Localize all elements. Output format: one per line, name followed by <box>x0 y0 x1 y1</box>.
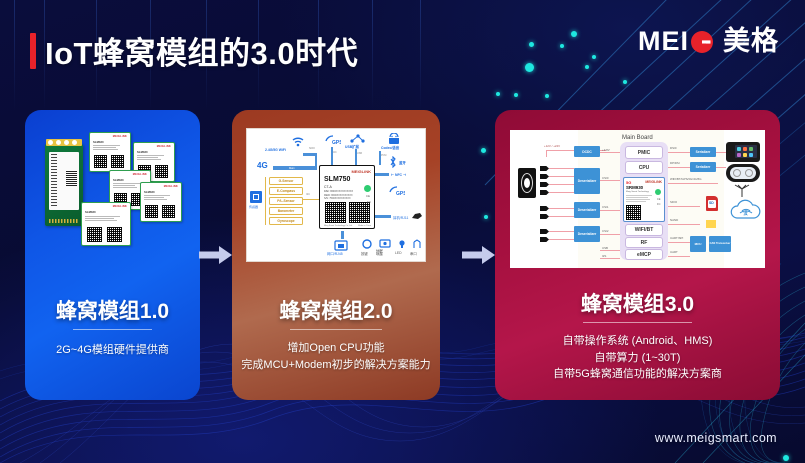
node-dot <box>560 44 564 48</box>
sleep-wake-icon <box>379 239 391 249</box>
main-board-diagram: Main Board +12V / +24V <box>510 130 765 268</box>
card-cellular-module-2[interactable]: MEIGLiNK SLM750 CT-A IMEI: 8600XXXXXXXXX… <box>232 110 440 400</box>
card-subtitle: 自带操作系统 (Android、HMS) 自带算力 (1~30T) 自带5G蜂窝… <box>501 333 774 383</box>
nand-chip-icon <box>706 220 716 228</box>
block-mcu: MCU <box>690 236 706 252</box>
module-chip-graphic: MEIGLiNK SLM750 CT-A IMEI: 8600XXXXXXXXX… <box>319 165 375 229</box>
node-dot <box>514 93 518 97</box>
sensor-barometer: Barometer <box>269 207 303 215</box>
sd-card-icon: SD <box>706 196 718 211</box>
card-subtitle: 2G~4G模组硬件提供商 <box>31 342 194 359</box>
website-url[interactable]: www.meigsmart.com <box>655 431 777 445</box>
card-subtitle-line: 自带算力 (1~30T) <box>501 350 774 367</box>
bus-arrow <box>273 166 317 170</box>
card-title: 蜂窝模组1.0 <box>25 295 200 325</box>
logo-g-icon <box>690 30 714 54</box>
logo-chinese-name: 美格 <box>723 28 779 55</box>
page-title: IoT蜂窝模组的3.0时代 <box>30 28 358 73</box>
block-cpu: CPU <box>625 161 663 174</box>
serial-port-icon <box>412 239 422 249</box>
node-dot <box>529 42 534 47</box>
node-dot <box>592 55 596 59</box>
sensor-g-sensor: G-Sensor <box>269 177 303 185</box>
logo-wordmark: MEI <box>638 28 714 55</box>
open-cpu-diagram: MEIGLiNK SLM750 CT-A IMEI: 8600XXXXXXXXX… <box>246 128 426 262</box>
node-dot <box>484 215 488 219</box>
sensor-gyroscope: Gyroscope <box>269 217 303 225</box>
card-title: 蜂窝模组2.0 <box>232 295 440 325</box>
block-serializer: Serializer <box>690 162 716 172</box>
svg-text:GPS: GPS <box>396 191 405 196</box>
camera-icon <box>518 168 536 198</box>
bluetooth-icon <box>389 156 397 168</box>
card-cellular-module-3[interactable]: Main Board +12V / +24V <box>495 110 780 400</box>
sensor-chip-icon <box>250 191 262 203</box>
block-serializer: Serializer <box>690 147 716 157</box>
ethernet-icon <box>333 239 349 251</box>
block-emcp: eMCP <box>625 249 663 260</box>
block-dcdc: DCDC <box>574 146 600 157</box>
card-divider <box>290 329 382 330</box>
pcb-module-image <box>45 144 83 226</box>
node-dot <box>783 455 789 461</box>
chip-brand: MEIGLiNK <box>645 180 662 184</box>
sensor-e-compass: E-Compass <box>269 187 303 195</box>
node-dot <box>496 92 500 96</box>
module-chip-srm930: 5G MEIGLiNK SRM930 Meig Smart Technology… <box>623 177 665 222</box>
card-subtitle-line: 增加Open CPU功能 <box>238 340 434 357</box>
card-divider <box>583 322 692 323</box>
slide-canvas: IoT蜂窝模组的3.0时代 MEI 美格 <box>0 0 805 463</box>
chip-model: SRM930 <box>626 185 643 190</box>
block-can-transceiver: CAN Transceiver <box>709 236 731 252</box>
node-dot <box>571 31 577 37</box>
node-dot <box>525 63 534 72</box>
arrow-panel1-to-panel2 <box>199 245 233 265</box>
node-dot <box>545 94 549 98</box>
gps-icon: GPS <box>325 135 341 145</box>
block-deserializer: Deserializer <box>574 226 600 242</box>
block-deserializer: Deserializer <box>574 168 600 194</box>
logo-letters: MEI <box>638 28 689 55</box>
node-dot <box>585 65 589 69</box>
card-subtitle-line: 自带5G蜂窝通信功能的解决方案商 <box>501 366 774 383</box>
wifi-icon <box>291 135 305 147</box>
block-wifi-bt: WIFI/BT <box>625 224 663 236</box>
card-cellular-module-1[interactable]: MEIGLiNKSLM320 MEIGLiNKSLM320 MEIGLiNKSL… <box>25 110 200 400</box>
svg-text:云: 云 <box>743 211 748 217</box>
svg-text:GPS: GPS <box>332 140 341 145</box>
node-dot <box>623 80 627 84</box>
title-accent-bar <box>30 33 36 69</box>
chip-5g-badge: 5G <box>626 180 631 185</box>
board-title: Main Board <box>622 135 653 141</box>
card-subtitle-line: 自带操作系统 (Android、HMS) <box>501 333 774 350</box>
button-icon <box>362 239 372 249</box>
handset-icon <box>411 211 423 221</box>
node-dot <box>481 148 486 153</box>
led-icon <box>397 239 407 249</box>
sensor-pl-sensor: P/L-Sensor <box>269 197 303 205</box>
instrument-cluster-icon <box>726 164 760 182</box>
gps-icon: GPS <box>389 186 405 196</box>
block-rf: RF <box>625 237 663 248</box>
cloud-icon: 云 <box>728 198 764 224</box>
block-pmic: PMIC <box>625 146 663 159</box>
module-card: MEIGLiNKSLM320 <box>89 132 131 172</box>
android-icon <box>387 133 401 145</box>
card-subtitle-line: 完成MCU+Modem初步的解决方案能力 <box>238 357 434 374</box>
brand-logo: MEI 美格 <box>638 28 779 55</box>
card-title: 蜂窝模组3.0 <box>495 288 780 318</box>
module-card: MEIGLiNKSLM320 <box>140 182 182 222</box>
block-deserializer: Deserializer <box>574 202 600 218</box>
card-divider <box>73 329 152 330</box>
arrow-panel2-to-panel3 <box>462 245 496 265</box>
title-text: IoT蜂窝模组的3.0时代 <box>45 28 358 73</box>
center-display-icon <box>726 142 760 162</box>
card-subtitle: 增加Open CPU功能 完成MCU+Modem初步的解决方案能力 <box>238 340 434 373</box>
module-card: MEIGLiNKSLM320 <box>81 202 131 246</box>
module-photo-group: MEIGLiNKSLM320 MEIGLiNKSLM320 MEIGLiNKSL… <box>37 126 188 262</box>
antenna-icon <box>732 184 752 198</box>
